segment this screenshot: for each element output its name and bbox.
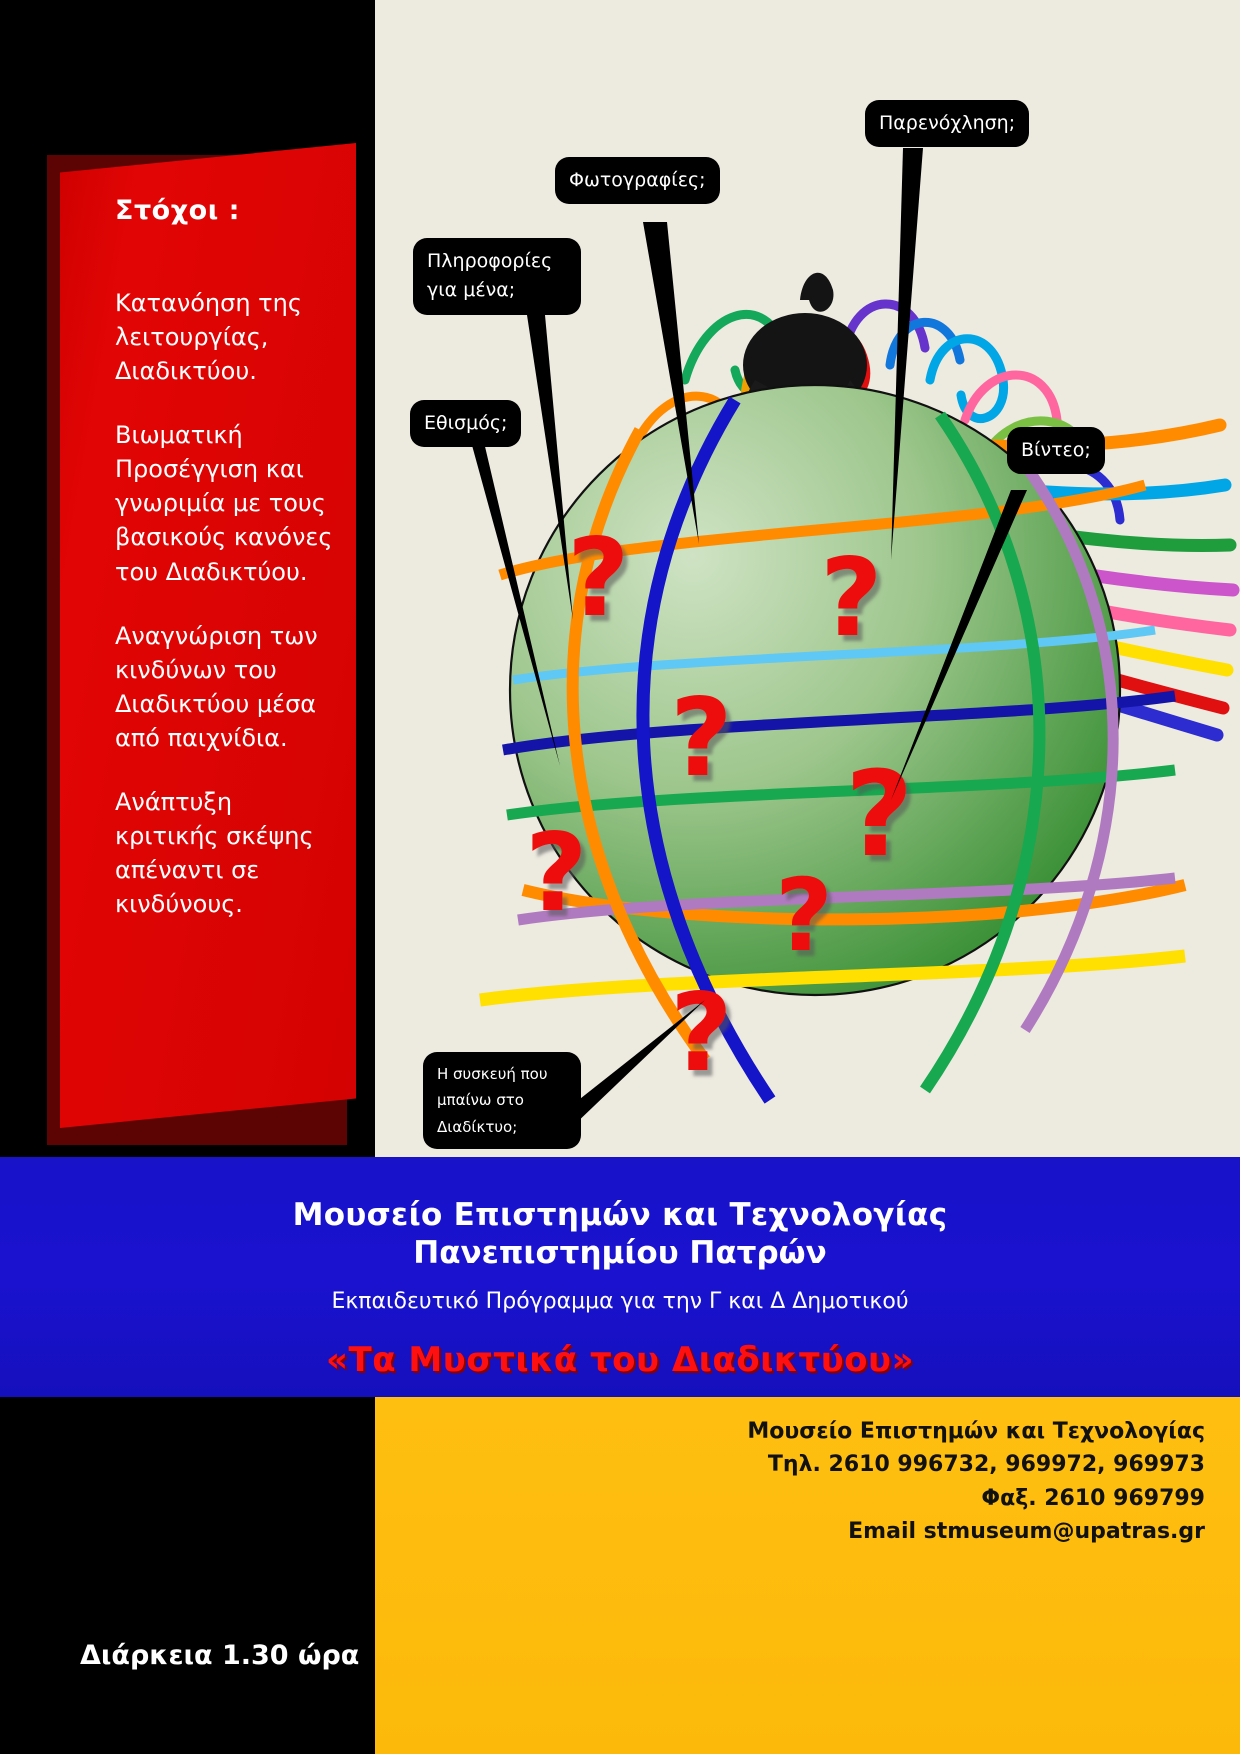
museum-banner: Μουσείο Επιστημών και Τεχνολογίας Πανεπι…: [0, 1157, 1240, 1397]
goal-item: Ανάπτυξη κριτικής σκέψης απέναντι σε κιν…: [115, 785, 336, 921]
artwork-panel: ? ? ? ? ? ? ? Παρενόχληση; Φωτογραφίες; …: [375, 0, 1240, 1157]
contact-line: Μουσείο Επιστημών και Τεχνολογίας: [375, 1415, 1240, 1448]
contact-box: Μουσείο Επιστημών και Τεχνολογίας Τηλ. 2…: [375, 1397, 1240, 1754]
goal-item: Κατανόηση της λειτουργίας, Διαδικτύου.: [115, 286, 336, 388]
goal-item: Βιωματική Προσέγγιση και γνωριμία με του…: [115, 418, 336, 588]
museum-name-line1: Μουσείο Επιστημών και Τεχνολογίας: [0, 1157, 1240, 1233]
goals-title: Στόχοι :: [115, 195, 336, 226]
duration-label: Διάρκεια 1.30 ώρα: [80, 1640, 359, 1671]
contact-line: Τηλ. 2610 996732, 969972, 969973: [375, 1448, 1240, 1481]
callout-siskevi[interactable]: Η συσκευή που μπαίνω στο Διαδίκτυο;: [423, 1052, 581, 1149]
goals-panel: Στόχοι : Κατανόηση της λειτουργίας, Διαδ…: [60, 143, 356, 1128]
callout-plirofories[interactable]: Πληροφορίες για μένα;: [413, 238, 581, 315]
callout-vinteo[interactable]: Βίντεο;: [1007, 427, 1105, 474]
callout-ethismos[interactable]: Εθισμός;: [410, 400, 521, 447]
contact-email[interactable]: Email stmuseum@upatras.gr: [375, 1515, 1240, 1548]
goal-item: Αναγνώριση των κινδύνων του Διαδικτύου μ…: [115, 619, 336, 755]
program-subtitle: Εκπαιδευτικό Πρόγραμμα για την Γ και Δ Δ…: [0, 1289, 1240, 1314]
callout-pointers: [375, 0, 1240, 1157]
museum-name-line2: Πανεπιστημίου Πατρών: [0, 1235, 1240, 1271]
callout-fotografies[interactable]: Φωτογραφίες;: [555, 157, 720, 204]
poster-root: ? ? ? ? ? ? ? Παρενόχληση; Φωτογραφίες; …: [0, 0, 1240, 1754]
callout-parenochlisi[interactable]: Παρενόχληση;: [865, 100, 1029, 147]
contact-line: Φαξ. 2610 969799: [375, 1482, 1240, 1515]
program-title: «Τα Μυστικά του Διαδικτύου»: [0, 1340, 1240, 1380]
